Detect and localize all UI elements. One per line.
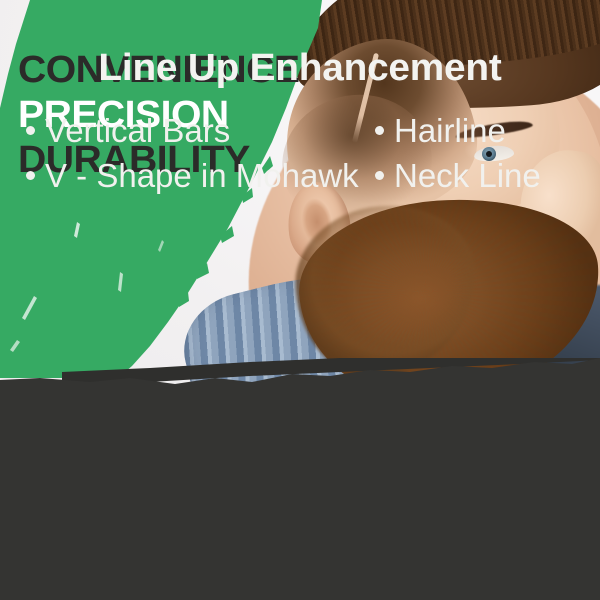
panel-title: Line Up Enhancement	[0, 48, 600, 88]
bullet-dot-icon	[26, 126, 35, 135]
feature-label: Neck Line	[394, 157, 541, 194]
bullet-dot-icon	[375, 171, 384, 180]
feature-panel-background	[0, 358, 600, 600]
list-item: Hairline	[375, 108, 600, 153]
panel-body	[0, 358, 600, 600]
feature-list-left: Vertical Bars V - Shape in Mohawk	[0, 108, 375, 198]
list-item: Vertical Bars	[26, 108, 375, 153]
feature-label: V - Shape in Mohawk	[45, 157, 359, 194]
feature-lists: Vertical Bars V - Shape in Mohawk Hairli…	[0, 108, 600, 198]
feature-label: Hairline	[394, 112, 506, 149]
list-item: Neck Line	[375, 153, 600, 198]
feature-list-right: Hairline Neck Line	[375, 108, 600, 198]
bullet-dot-icon	[375, 126, 384, 135]
bullet-dot-icon	[26, 171, 35, 180]
feature-panel-content: Line Up Enhancement Vertical Bars V - Sh…	[0, 0, 600, 242]
promo-banner: CONVENIENCE PRECISION DURABILITY Line Up…	[0, 0, 600, 600]
feature-label: Vertical Bars	[45, 112, 230, 149]
list-item: V - Shape in Mohawk	[26, 153, 375, 198]
